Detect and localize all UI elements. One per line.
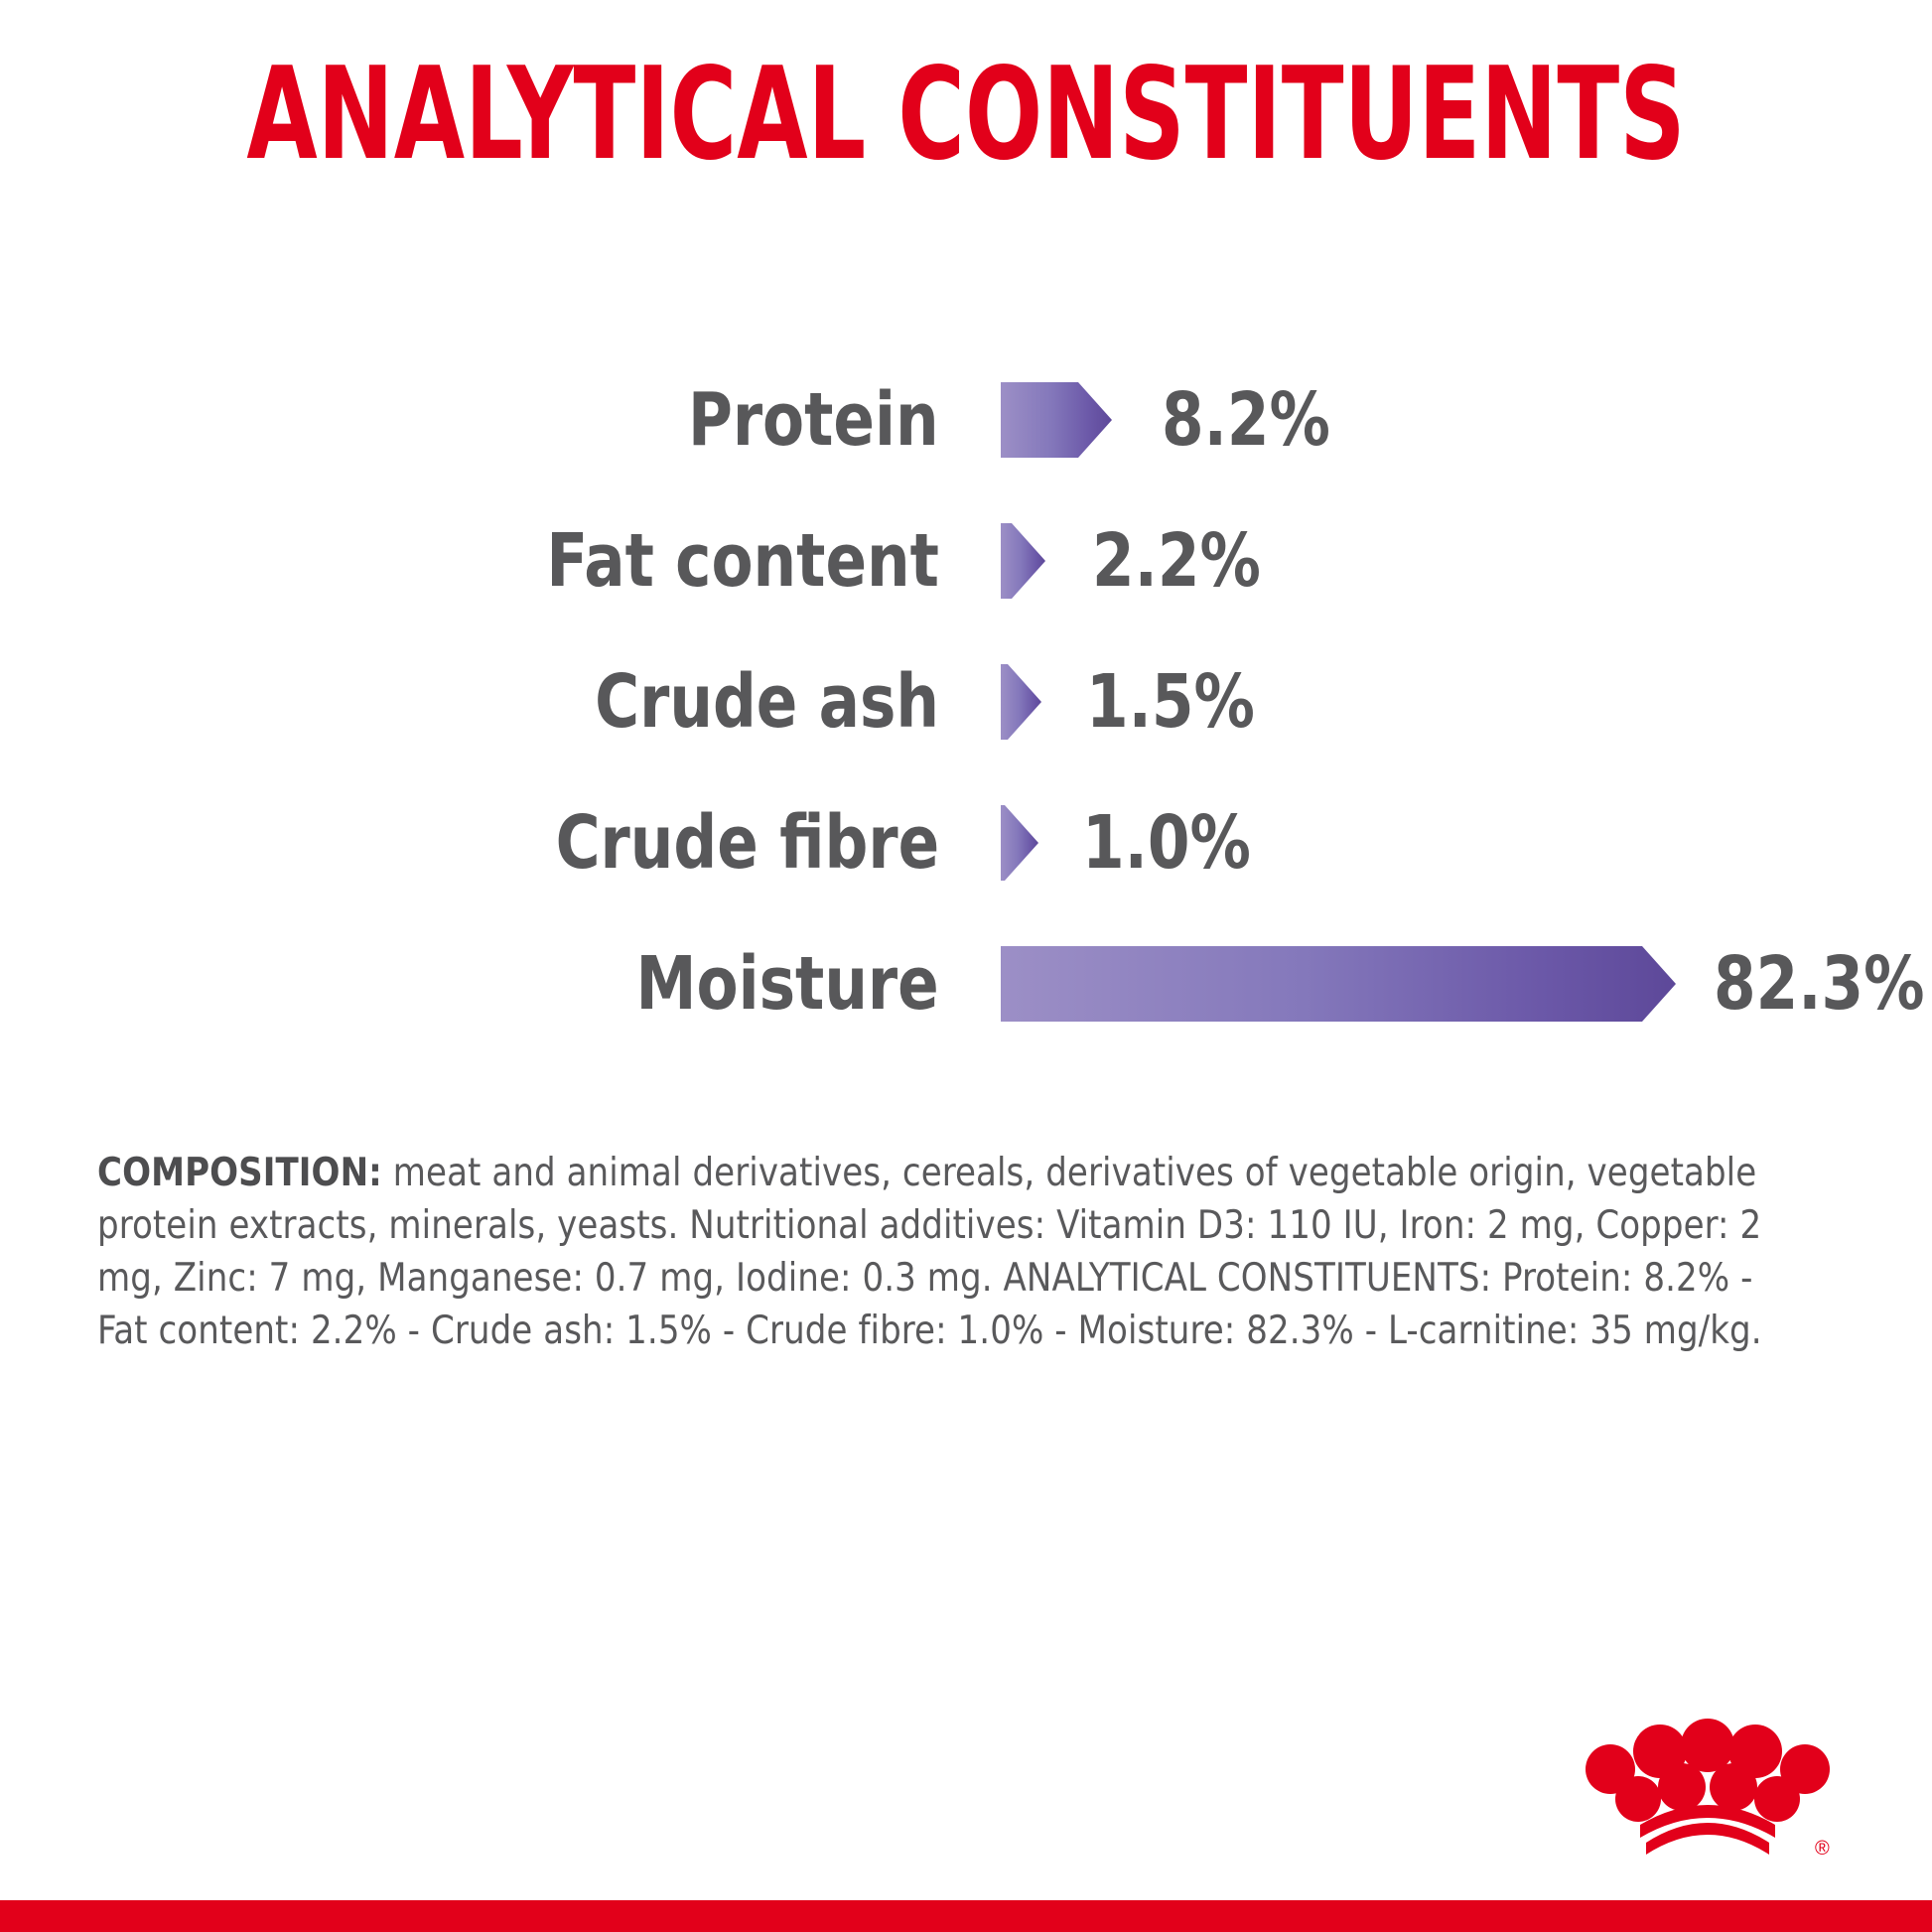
constituent-row-crude-fibre: Crude fibre 1.0% [0,772,1932,913]
page-root: ANALYTICAL CONSTITUENTS Protein 8.2% Fat… [0,0,1932,1932]
constituent-row-moisture: Moisture 82.3% [0,913,1932,1054]
constituent-bar-wrap [1001,523,1045,599]
constituent-label: Protein [688,383,939,457]
constituent-value: 82.3% [1714,947,1924,1021]
constituent-label: Moisture [636,947,939,1021]
registered-mark: ® [1815,1838,1830,1860]
constituent-bar-wrap [1001,805,1038,881]
constituent-bar [1001,664,1041,740]
constituent-row-protein: Protein 8.2% [0,349,1932,490]
constituent-bar [1001,523,1045,599]
bottom-red-band [0,1900,1932,1932]
constituent-bar [1001,382,1112,458]
page-title: ANALYTICAL CONSTITUENTS [194,52,1739,179]
royal-canin-logo: ® [1585,1704,1831,1870]
constituent-row-fat-content: Fat content 2.2% [0,490,1932,631]
constituent-label: Crude ash [595,665,939,739]
constituent-value: 8.2% [1162,383,1330,457]
constituent-bar-wrap [1001,382,1112,458]
constituent-value: 1.5% [1086,665,1255,739]
constituent-value: 1.0% [1082,806,1251,880]
crown-icon [1586,1719,1830,1855]
constituent-bar-wrap [1001,946,1676,1022]
constituent-bar-wrap [1001,664,1041,740]
constituent-label: Crude fibre [555,806,939,880]
constituent-bar [1001,946,1676,1022]
constituent-label: Fat content [546,524,939,598]
composition-paragraph: COMPOSITION: meat and animal derivatives… [97,1147,1802,1357]
composition-heading: COMPOSITION: [97,1151,382,1195]
constituent-row-crude-ash: Crude ash 1.5% [0,631,1932,772]
constituent-bar [1001,805,1038,881]
constituent-value: 2.2% [1092,524,1261,598]
constituents-chart: Protein 8.2% Fat content 2.2% Crude ash … [0,349,1932,1054]
